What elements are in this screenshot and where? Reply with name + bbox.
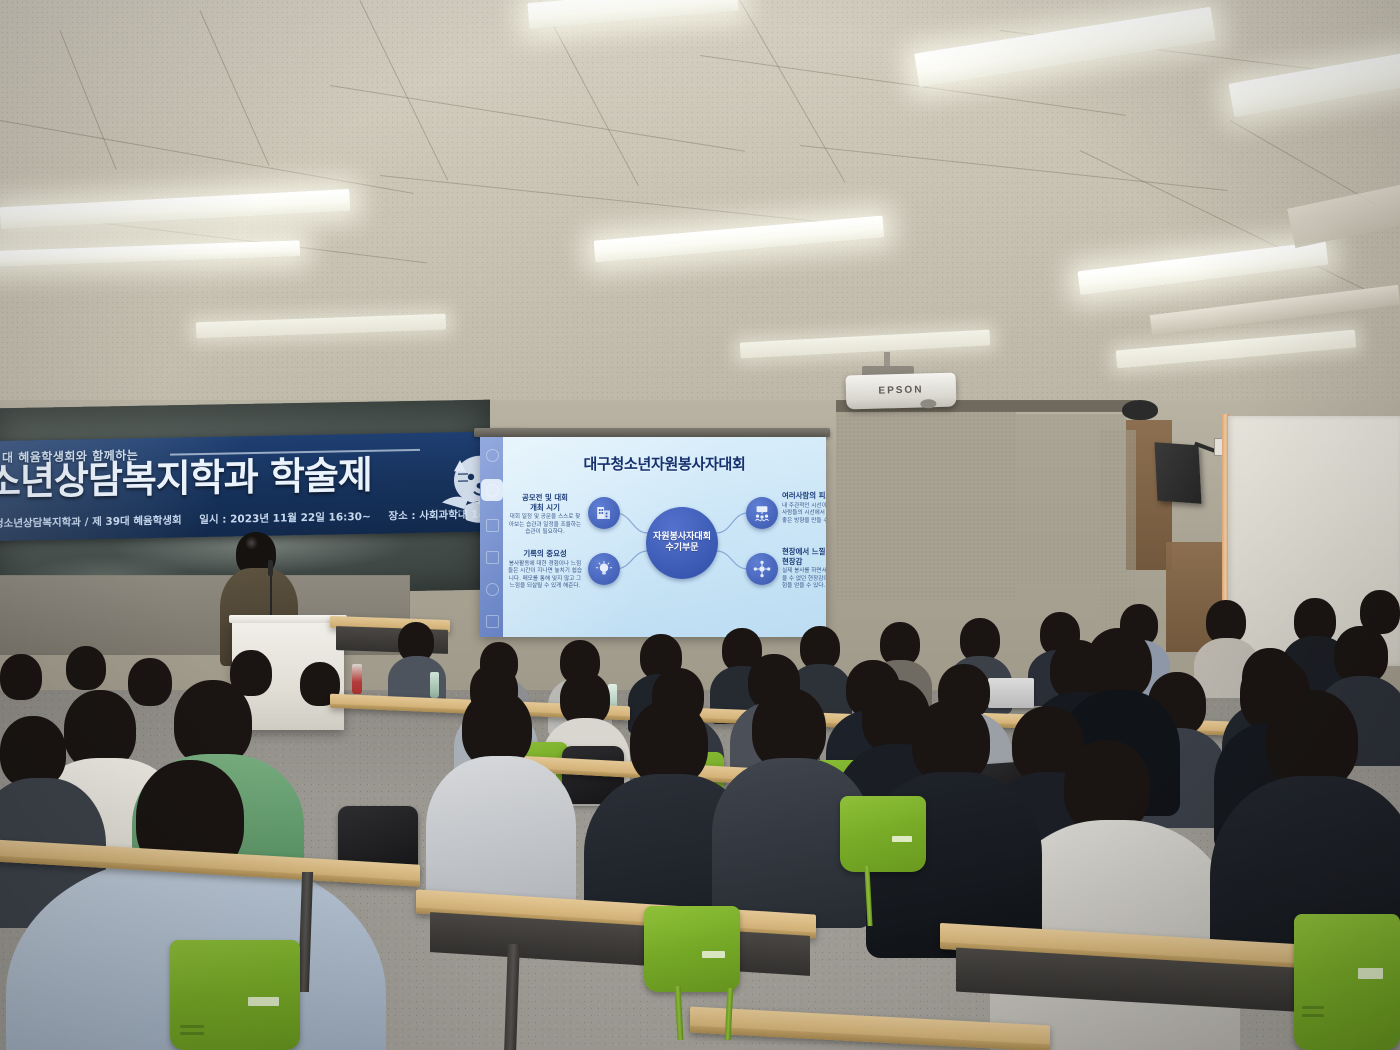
chair bbox=[1294, 914, 1400, 1050]
screen-housing bbox=[474, 428, 830, 437]
block-body: 대회 일정 및 공문을 스스로 찾아보는 습관과 일정을 조율하는 습관이 필요… bbox=[508, 514, 582, 537]
block-body: 내 주관적인 시선이 아닌 다른 사람들의 시선에서 보았을 때 더 좋은 방향… bbox=[782, 503, 826, 526]
slide-node-top-right bbox=[746, 497, 778, 529]
center-node-line1: 자원봉사자대회 bbox=[646, 532, 718, 543]
block-heading: 기록의 중요성 bbox=[508, 549, 582, 559]
banner-title: 소년상담복지학과 학술제 bbox=[0, 456, 372, 501]
chair bbox=[644, 906, 740, 992]
banner-dept: 청소년상담복지학과 / 제 39대 혜윰학생회 bbox=[0, 514, 182, 530]
slide-block-top-left: 공모전 및 대회 개최 시기 대회 일정 및 공문을 스스로 찾아보는 습관과 … bbox=[508, 493, 582, 537]
block-heading: 현장에서 느낄 수 있는 현장감 bbox=[782, 547, 826, 566]
slide-block-bottom-right: 현장에서 느낄 수 있는 현장감 실제 봉사를 하면서 머리로만 배울 수 없던… bbox=[782, 547, 826, 591]
drink-bottle bbox=[352, 664, 362, 694]
block-heading: 공모전 및 대회 개최 시기 bbox=[508, 493, 582, 512]
slide-center-node: 자원봉사자대회 수기부문 bbox=[646, 507, 718, 579]
event-banner: 대 혜윰학생회와 함께하는 소년상담복지학과 학술제 청소년상담복지학과 / 제… bbox=[0, 431, 522, 541]
projection-screen: 대구청소년자원봉사자대회 자원봉사자대회 수기부문 bbox=[480, 437, 826, 637]
block-body: 봉사활동에 대한 경험이나 느낌들은 시간이 지나면 놓치기 쉽습니다. 메모를… bbox=[508, 561, 582, 591]
projector-brand-label: EPSON bbox=[846, 384, 956, 398]
center-node-label: 자원봉사자대회 수기부문 bbox=[646, 532, 718, 555]
wall-acoustic-panel bbox=[836, 410, 1016, 600]
slide-node-bottom-left bbox=[588, 553, 620, 585]
presentation-people-icon bbox=[753, 504, 771, 522]
projector-lens bbox=[920, 399, 936, 408]
ceiling-texture bbox=[0, 0, 1400, 440]
chair bbox=[840, 796, 926, 872]
wall-speaker bbox=[1155, 442, 1202, 503]
slide-node-top-left bbox=[588, 497, 620, 529]
ceiling bbox=[0, 0, 1400, 440]
block-heading: 여러사람의 피드백 bbox=[782, 491, 826, 501]
laptop bbox=[988, 678, 1034, 708]
slide-node-bottom-right bbox=[746, 553, 778, 585]
slide-block-top-right: 여러사람의 피드백 내 주관적인 시선이 아닌 다른 사람들의 시선에서 보았을… bbox=[782, 491, 826, 525]
network-icon bbox=[753, 560, 771, 578]
chair bbox=[170, 940, 300, 1050]
hair-sheen bbox=[245, 536, 259, 549]
lecture-hall-photo: 대 혜윰학생회와 함께하는 소년상담복지학과 학술제 청소년상담복지학과 / 제… bbox=[0, 0, 1400, 1050]
projector: EPSON bbox=[846, 373, 957, 410]
lightbulb-icon bbox=[596, 561, 613, 578]
block-body: 실제 봉사를 하면서 머리로만 배울 수 없던 현장감이나 감정 경험을 얻을 … bbox=[782, 568, 826, 591]
building-icon bbox=[596, 505, 613, 522]
slide-block-bottom-left: 기록의 중요성 봉사활동에 대한 경험이나 느낌들은 시간이 지나면 놓치기 쉽… bbox=[508, 549, 582, 591]
center-node-line2: 수기부문 bbox=[646, 543, 718, 554]
handheld-microphone bbox=[268, 560, 273, 576]
wall-acoustic-panel bbox=[1100, 430, 1136, 630]
dome-camera-icon bbox=[1122, 400, 1158, 420]
banner-datetime: 일시 : 2023년 11월 22일 16:30~ bbox=[199, 511, 370, 526]
drink-bottle bbox=[430, 672, 439, 698]
